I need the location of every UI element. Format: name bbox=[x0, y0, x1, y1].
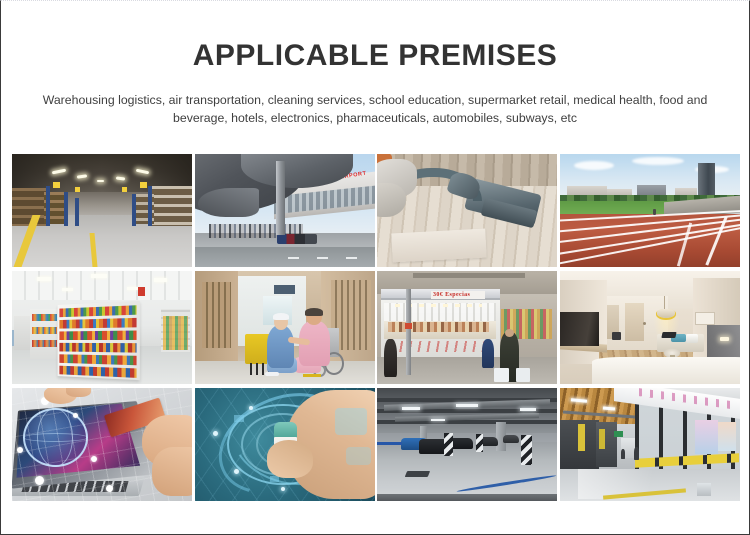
warehouse-ceiling-light bbox=[116, 176, 125, 180]
shelf-products bbox=[60, 354, 137, 365]
warehouse-rack-label bbox=[75, 187, 80, 192]
ceiling-light-panel bbox=[154, 278, 167, 282]
premises-image-school bbox=[560, 154, 740, 267]
entry-door bbox=[625, 303, 645, 341]
shelf-products bbox=[60, 331, 137, 340]
airport-scene: INTERNATIONAL AIRPORT bbox=[195, 154, 375, 267]
page-header: APPLICABLE PREMISES Warehousing logistic… bbox=[1, 1, 749, 128]
warehouse-post bbox=[46, 186, 50, 227]
wood-slat-screen bbox=[202, 282, 231, 348]
nurse-shoe bbox=[265, 372, 279, 377]
premises-image-electronics bbox=[12, 388, 192, 501]
warehouse-post bbox=[148, 186, 152, 227]
kettle bbox=[612, 332, 621, 340]
food-market-scene: 30€ Especias bbox=[377, 271, 557, 384]
passenger bbox=[634, 447, 639, 460]
airport-vehicles bbox=[277, 234, 317, 244]
patient-hair bbox=[305, 308, 323, 316]
shelf-products bbox=[60, 365, 137, 377]
warehouse-rack-label bbox=[140, 182, 147, 188]
shelf-products bbox=[32, 327, 57, 334]
shopper bbox=[384, 339, 397, 377]
striped-column bbox=[444, 433, 453, 456]
wall-mounted-tv bbox=[560, 312, 600, 346]
counter-produce bbox=[388, 322, 489, 332]
warehouse-rack-label bbox=[122, 187, 127, 192]
shelf-unit bbox=[30, 309, 59, 359]
premises-image-subway bbox=[560, 388, 740, 501]
passenger bbox=[621, 449, 625, 459]
supermarket-scene bbox=[12, 271, 192, 384]
premises-image-food-beverage: 30€ Especias bbox=[377, 271, 557, 384]
right-shelf-products bbox=[163, 316, 188, 350]
floor-drain-grate bbox=[405, 471, 431, 477]
striped-column bbox=[476, 434, 483, 452]
subway-platform-scene bbox=[560, 388, 740, 501]
page-title: APPLICABLE PREMISES bbox=[25, 39, 725, 72]
circuit-chip bbox=[270, 476, 279, 482]
network-node bbox=[106, 485, 113, 492]
premises-image-pharmaceuticals bbox=[195, 388, 375, 501]
warehouse-scene bbox=[12, 154, 192, 267]
premises-image-grid: INTERNATIONAL AIRPORT bbox=[12, 154, 740, 501]
premises-image-airport: INTERNATIONAL AIRPORT bbox=[195, 154, 375, 267]
ceiling-light bbox=[431, 419, 445, 421]
airport-road-marking bbox=[317, 257, 328, 259]
warehouse-ceiling-light bbox=[97, 180, 104, 182]
premises-image-supermarket bbox=[12, 271, 192, 384]
pharma-scene bbox=[195, 388, 375, 501]
warehouse-rack-right bbox=[151, 186, 192, 227]
ceiling-light-panel bbox=[127, 287, 138, 290]
stall-sign-text: 30€ Especias bbox=[433, 292, 470, 298]
floor-guide-line bbox=[377, 442, 402, 445]
ceiling-light-panel bbox=[62, 288, 73, 291]
shelf-products bbox=[32, 340, 57, 347]
hotel-room-scene bbox=[560, 271, 740, 384]
bed-headboard bbox=[707, 325, 739, 359]
cleaning-scene bbox=[377, 154, 557, 267]
ceiling-light-panel bbox=[37, 277, 51, 281]
laptop bbox=[662, 332, 678, 338]
premises-image-automobiles bbox=[377, 388, 557, 501]
network-node bbox=[213, 431, 218, 436]
ceiling-duct bbox=[413, 273, 525, 278]
capsule-top bbox=[274, 422, 297, 438]
warehouse-post bbox=[132, 194, 136, 227]
door-handle bbox=[643, 322, 646, 325]
shelf-products bbox=[60, 318, 137, 329]
electronics-scene bbox=[12, 388, 192, 501]
premises-image-cleaning bbox=[377, 154, 557, 267]
yellow-wall-panel bbox=[599, 429, 604, 449]
hand-highlight bbox=[335, 408, 367, 435]
yellow-wall-panel bbox=[578, 424, 585, 451]
shopper bbox=[482, 339, 495, 368]
striped-column bbox=[521, 435, 532, 464]
ceiling-light-panel bbox=[91, 274, 107, 278]
airport-road-marking bbox=[346, 257, 357, 259]
aisle-sign bbox=[138, 287, 145, 296]
nurse-scrubs bbox=[267, 325, 294, 368]
nurse-cap bbox=[273, 313, 289, 320]
structural-pole bbox=[406, 289, 411, 375]
main-shelf-gondola bbox=[58, 301, 140, 380]
advertising-panel bbox=[695, 420, 718, 454]
shelf-products bbox=[60, 305, 137, 317]
airport-support-column bbox=[276, 161, 285, 236]
sofa-cushion bbox=[686, 334, 699, 343]
ceiling-light bbox=[520, 408, 536, 411]
hand-lower bbox=[152, 447, 192, 497]
parking-garage-scene bbox=[377, 388, 557, 501]
thumb bbox=[267, 440, 314, 478]
wheelchair-footrest bbox=[303, 374, 321, 377]
high-rise-tower bbox=[698, 163, 715, 197]
advertising-panel bbox=[718, 422, 736, 451]
page-subtitle: Warehousing logistics, air transportatio… bbox=[39, 92, 711, 128]
applicable-premises-page: APPLICABLE PREMISES Warehousing logistic… bbox=[0, 0, 750, 535]
warehouse-rack-label bbox=[53, 182, 60, 188]
hotel-bed bbox=[592, 357, 740, 384]
airport-canopy bbox=[198, 188, 259, 217]
premises-image-hotel bbox=[560, 271, 740, 384]
ceiling-light bbox=[456, 404, 478, 407]
circuit-chip bbox=[234, 415, 244, 422]
network-node bbox=[91, 456, 97, 462]
platform-bin bbox=[697, 483, 711, 497]
parked-car bbox=[503, 435, 519, 443]
warehouse-post bbox=[75, 198, 79, 226]
ceiling-light bbox=[402, 407, 420, 410]
hospital-scene bbox=[195, 271, 375, 384]
wall-panel bbox=[274, 285, 296, 294]
shopping-bag bbox=[516, 368, 530, 382]
warehouse-post bbox=[64, 192, 68, 226]
framed-picture bbox=[695, 312, 715, 326]
shopper-head bbox=[505, 329, 514, 337]
bedside-sconce bbox=[720, 337, 729, 342]
network-node bbox=[249, 406, 253, 410]
premises-image-medical bbox=[195, 271, 375, 384]
pointing-finger bbox=[66, 388, 91, 397]
shopping-bag bbox=[494, 368, 508, 382]
shelf-products bbox=[32, 314, 57, 321]
loose-floor-plank bbox=[391, 228, 486, 262]
foreground-kerb bbox=[377, 494, 557, 501]
airport-road-marking bbox=[288, 257, 299, 259]
pole-marker bbox=[405, 323, 412, 329]
premises-image-warehouse bbox=[12, 154, 192, 267]
cloud bbox=[574, 161, 614, 170]
school-track-scene bbox=[560, 154, 740, 267]
exit-sign bbox=[614, 431, 623, 437]
hand-highlight bbox=[346, 447, 371, 465]
shelf-products bbox=[60, 343, 137, 353]
market-floor bbox=[377, 357, 557, 384]
